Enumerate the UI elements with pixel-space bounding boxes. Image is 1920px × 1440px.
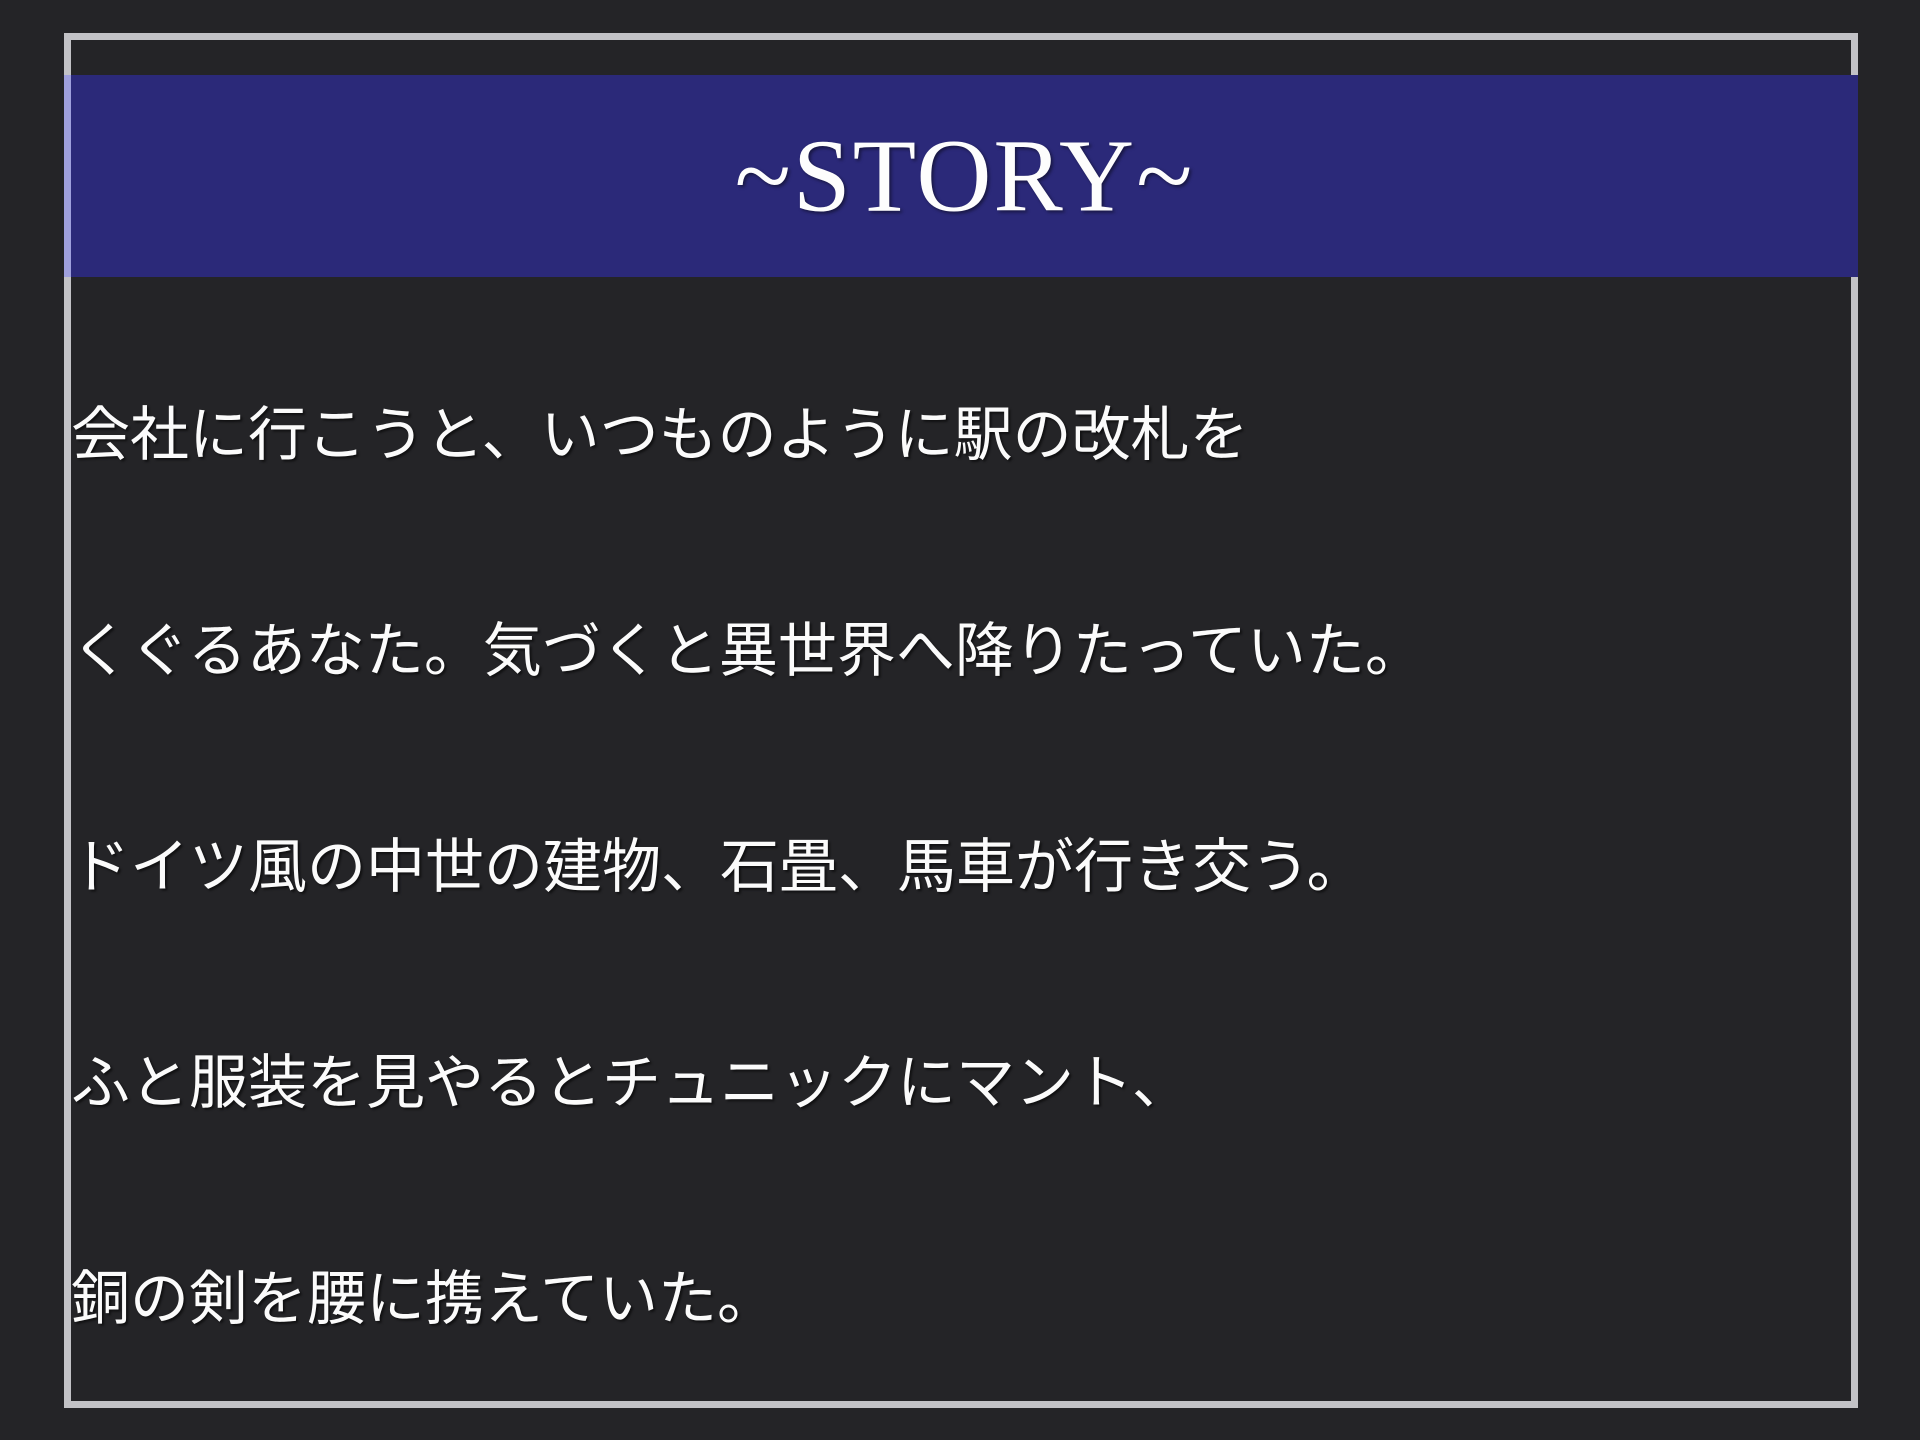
story-line: ドイツ風の中世の建物、石畳、馬車が行き交う。 [71,831,1920,903]
story-line: 会社に行こうと、いつものように駅の改札を [71,399,1920,471]
story-title-band: ~STORY~ [64,75,1858,277]
story-screen: ~STORY~ 会社に行こうと、いつものように駅の改札を くぐるあなた。気づくと… [0,0,1920,1440]
story-line: 銅の剣を腰に携えていた。 [71,1263,1920,1335]
story-line: ふと服装を見やるとチュニックにマント、 [71,1047,1920,1119]
story-line: くぐるあなた。気づくと異世界へ降りたっていた。 [71,615,1920,687]
page-title: ~STORY~ [71,121,1858,230]
story-panel: ~STORY~ 会社に行こうと、いつものように駅の改札を くぐるあなた。気づくと… [71,40,1851,1401]
story-body-text: 会社に行こうと、いつものように駅の改札を くぐるあなた。気づくと異世界へ降りたっ… [71,255,1920,1440]
story-frame: ~STORY~ 会社に行こうと、いつものように駅の改札を くぐるあなた。気づくと… [64,33,1858,1408]
